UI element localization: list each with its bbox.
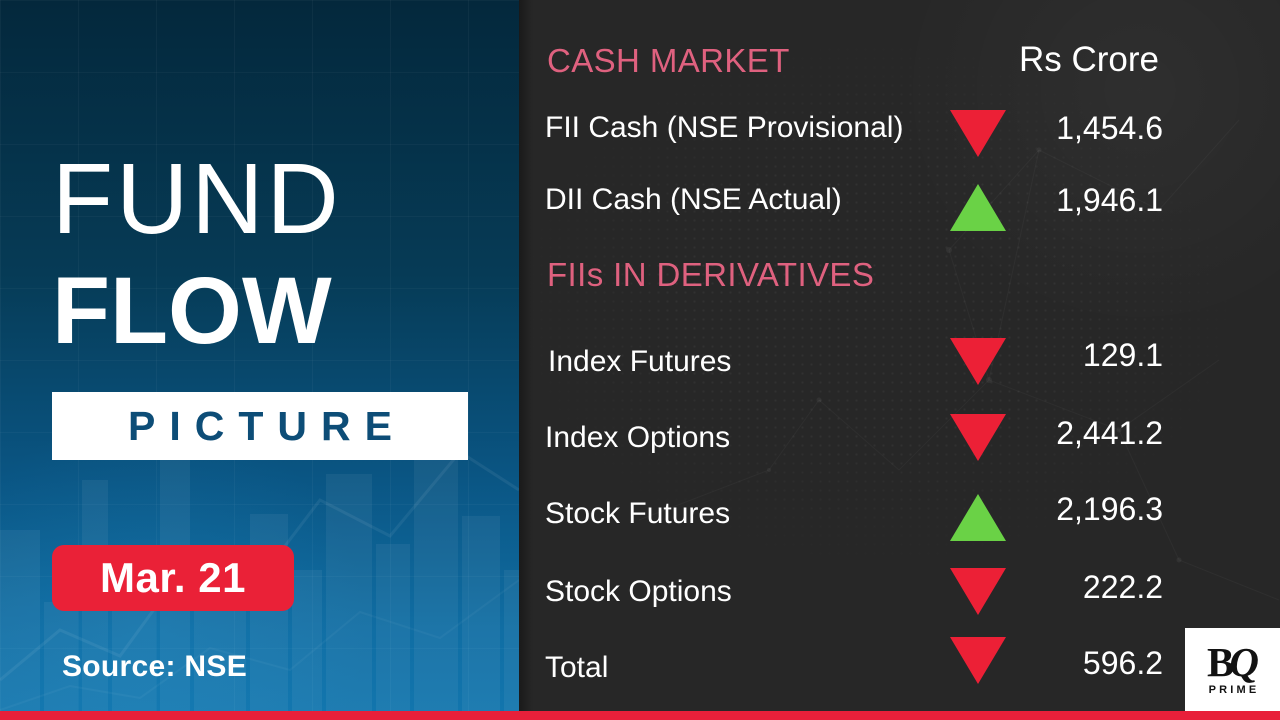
bottom-accent-bar xyxy=(0,711,1280,720)
infographic-canvas: FUND FLOW PICTURE Mar. 21 Source: NSE xyxy=(0,0,1280,720)
brand-word-flow: FLOW xyxy=(52,265,332,358)
row-label-index-futures: Index Futures xyxy=(548,345,731,379)
brand-picture-band: PICTURE xyxy=(52,392,468,460)
row-value-index-options: 2,441.2 xyxy=(903,415,1163,452)
row-value-stock-options: 222.2 xyxy=(903,569,1163,606)
row-value-stock-futures: 2,196.3 xyxy=(903,491,1163,528)
brand-word-picture: PICTURE xyxy=(114,403,406,450)
row-label-fii-cash: FII Cash (NSE Provisional) xyxy=(545,111,903,145)
bq-prime-logo: BQ PRIME xyxy=(1185,628,1280,712)
row-label-dii-cash: DII Cash (NSE Actual) xyxy=(545,183,842,217)
panel-divider xyxy=(519,0,533,720)
date-badge: Mar. 21 xyxy=(52,545,294,611)
left-brand-panel: FUND FLOW PICTURE Mar. 21 Source: NSE xyxy=(0,0,519,720)
brand-word-fund: FUND xyxy=(52,150,342,248)
logo-wordmark: PRIME xyxy=(1206,684,1260,696)
unit-header: Rs Crore xyxy=(1019,40,1159,80)
row-value-fii-cash: 1,454.6 xyxy=(903,110,1163,147)
row-label-stock-options: Stock Options xyxy=(545,575,732,609)
data-panel: CASH MARKET Rs Crore FII Cash (NSE Provi… xyxy=(519,0,1280,720)
row-value-dii-cash: 1,946.1 xyxy=(903,182,1163,219)
section-header-fii-derivatives: FIIs IN DERIVATIVES xyxy=(547,256,874,294)
source-label: Source: NSE xyxy=(62,650,247,684)
date-badge-label: Mar. 21 xyxy=(100,554,246,602)
logo-mark: BQ xyxy=(1207,644,1258,682)
logo-letter-q: Q xyxy=(1229,639,1258,685)
row-value-index-futures: 129.1 xyxy=(903,337,1163,374)
row-value-total: 596.2 xyxy=(903,645,1163,682)
row-label-stock-futures: Stock Futures xyxy=(545,497,730,531)
row-label-total: Total xyxy=(545,651,608,685)
section-header-cash-market: CASH MARKET xyxy=(547,42,790,80)
row-label-index-options: Index Options xyxy=(545,421,730,455)
